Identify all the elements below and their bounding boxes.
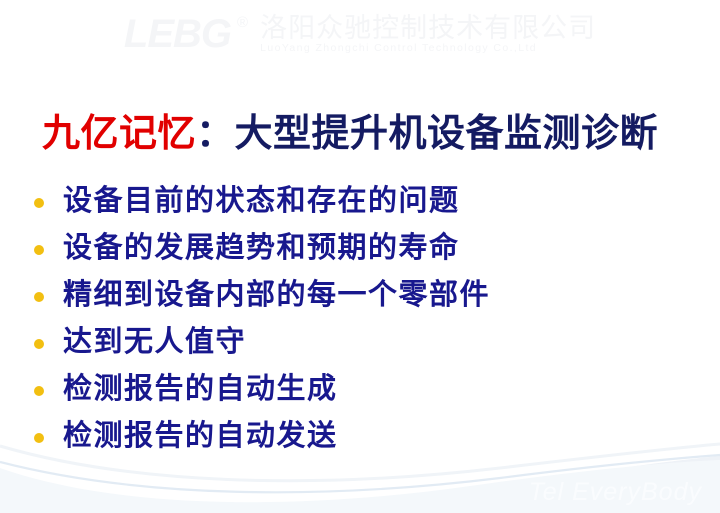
company-name-en: LuoYang Zhongchi Control Technology Co.,… bbox=[260, 43, 596, 55]
company-name-block: 洛阳众驰控制技术有限公司 LuoYang Zhongchi Control Te… bbox=[260, 14, 596, 55]
list-item-label: 设备的发展趋势和预期的寿命 bbox=[63, 233, 460, 265]
bullet-dot-icon bbox=[34, 198, 44, 208]
list-item-label: 设备目前的状态和存在的问题 bbox=[63, 186, 460, 218]
slide-canvas: LEBG ® 洛阳众驰控制技术有限公司 LuoYang Zhongchi Con… bbox=[0, 0, 720, 513]
list-item: 精细到设备内部的每一个零部件 bbox=[34, 272, 694, 319]
bullet-dot-icon bbox=[34, 386, 44, 396]
bullet-dot-icon bbox=[34, 292, 44, 302]
slide-title: 九亿记忆：大型提升机设备监测诊断 bbox=[42, 113, 692, 157]
company-name-cn: 洛阳众驰控制技术有限公司 bbox=[260, 14, 596, 42]
slide-title-separator: ： bbox=[196, 113, 235, 155]
wave-stroke-accent bbox=[0, 455, 720, 492]
list-item: 设备的发展趋势和预期的寿命 bbox=[34, 225, 694, 272]
bullet-dot-icon bbox=[34, 245, 44, 255]
lebg-logo: LEBG bbox=[124, 14, 231, 54]
list-item-label: 精细到设备内部的每一个零部件 bbox=[63, 280, 490, 312]
registered-trademark-icon: ® bbox=[237, 14, 248, 31]
slide-title-highlight: 九亿记忆 bbox=[42, 113, 196, 155]
wave-shape-back bbox=[0, 456, 720, 513]
wave-shape-mid bbox=[0, 460, 720, 513]
list-item: 检测报告的自动发送 bbox=[34, 413, 694, 460]
list-item: 达到无人值守 bbox=[34, 319, 694, 366]
company-watermark: LEBG ® 洛阳众驰控制技术有限公司 LuoYang Zhongchi Con… bbox=[0, 6, 720, 62]
list-item-label: 检测报告的自动生成 bbox=[63, 374, 338, 406]
list-item-label: 检测报告的自动发送 bbox=[63, 421, 338, 453]
list-item-label: 达到无人值守 bbox=[63, 327, 246, 359]
bullet-dot-icon bbox=[34, 339, 44, 349]
list-item: 设备目前的状态和存在的问题 bbox=[34, 178, 694, 225]
footer-faint-text: Tel EveryBody bbox=[529, 478, 702, 507]
slide-title-rest: 大型提升机设备监测诊断 bbox=[235, 113, 659, 155]
bullet-list: 设备目前的状态和存在的问题 设备的发展趋势和预期的寿命 精细到设备内部的每一个零… bbox=[34, 178, 694, 460]
list-item: 检测报告的自动生成 bbox=[34, 366, 694, 413]
bullet-dot-icon bbox=[34, 433, 44, 443]
